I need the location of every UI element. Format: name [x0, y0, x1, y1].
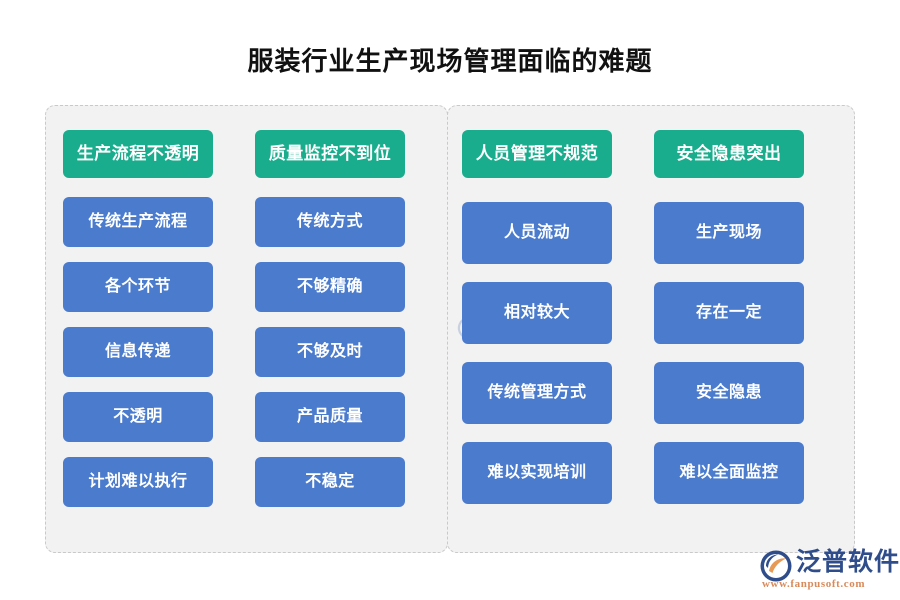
- column-personnel-management: 人员管理不规范 人员流动 相对较大 传统管理方式 难以实现培训: [462, 130, 612, 504]
- item-chip[interactable]: 不稳定: [255, 457, 405, 507]
- page-title: 服装行业生产现场管理面临的难题: [0, 44, 900, 78]
- column-header-chip[interactable]: 质量监控不到位: [255, 130, 405, 178]
- column-quality-monitoring: 质量监控不到位 传统方式 不够精确 不够及时 产品质量 不稳定: [255, 130, 405, 507]
- item-chip[interactable]: 各个环节: [63, 262, 213, 312]
- diagram-container: 生产流程不透明 传统生产流程 各个环节 信息传递 不透明 计划难以执行 质量监控…: [45, 105, 855, 553]
- item-chip[interactable]: 不够精确: [255, 262, 405, 312]
- column-safety-hazards: 安全隐患突出 生产现场 存在一定 安全隐患 难以全面监控: [654, 130, 804, 504]
- item-chip[interactable]: 产品质量: [255, 392, 405, 442]
- brand-logo: 泛普软件 www.fanpusoft.com: [760, 548, 895, 594]
- item-chip[interactable]: 人员流动: [462, 202, 612, 264]
- column-header-chip[interactable]: 安全隐患突出: [654, 130, 804, 178]
- column-items: 传统方式 不够精确 不够及时 产品质量 不稳定: [255, 197, 405, 507]
- item-chip[interactable]: 存在一定: [654, 282, 804, 344]
- item-chip[interactable]: 传统生产流程: [63, 197, 213, 247]
- item-chip[interactable]: 生产现场: [654, 202, 804, 264]
- item-chip[interactable]: 难以全面监控: [654, 442, 804, 504]
- item-chip[interactable]: 安全隐患: [654, 362, 804, 424]
- column-header-chip[interactable]: 生产流程不透明: [63, 130, 213, 178]
- brand-name: 泛普软件: [796, 547, 900, 577]
- item-chip[interactable]: 相对较大: [462, 282, 612, 344]
- item-chip[interactable]: 不够及时: [255, 327, 405, 377]
- item-chip[interactable]: 传统管理方式: [462, 362, 612, 424]
- column-header-chip[interactable]: 人员管理不规范: [462, 130, 612, 178]
- item-chip[interactable]: 信息传递: [63, 327, 213, 377]
- column-items: 人员流动 相对较大 传统管理方式 难以实现培训: [462, 202, 612, 504]
- item-chip[interactable]: 计划难以执行: [63, 457, 213, 507]
- item-chip[interactable]: 传统方式: [255, 197, 405, 247]
- column-items: 生产现场 存在一定 安全隐患 难以全面监控: [654, 202, 804, 504]
- column-production-process: 生产流程不透明 传统生产流程 各个环节 信息传递 不透明 计划难以执行: [63, 130, 213, 507]
- brand-url: www.fanpusoft.com: [762, 577, 865, 591]
- column-items: 传统生产流程 各个环节 信息传递 不透明 计划难以执行: [63, 197, 213, 507]
- item-chip[interactable]: 难以实现培训: [462, 442, 612, 504]
- item-chip[interactable]: 不透明: [63, 392, 213, 442]
